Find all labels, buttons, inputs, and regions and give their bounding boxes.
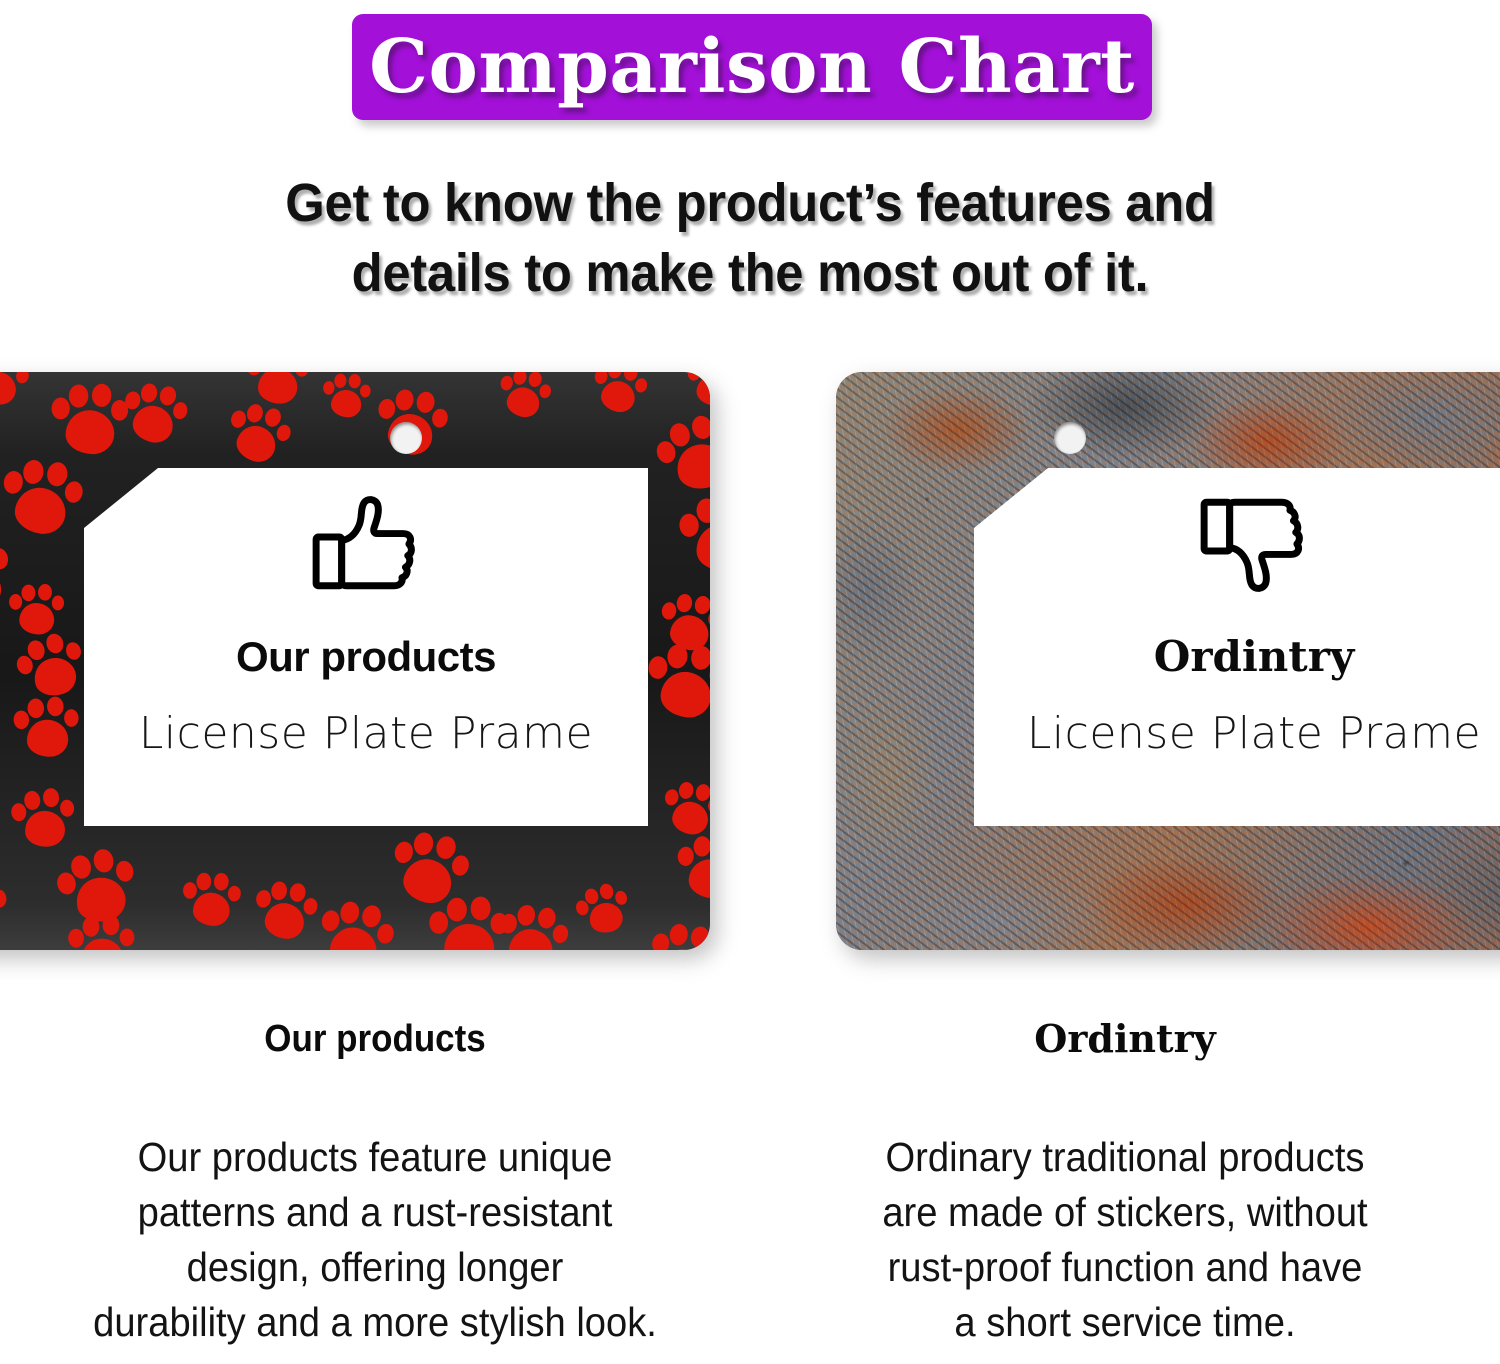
paw-print-icon bbox=[52, 844, 142, 932]
summary-line: a short service time. bbox=[776, 1295, 1474, 1350]
paw-print-icon bbox=[659, 778, 710, 841]
paw-print-icon bbox=[9, 787, 76, 853]
paw-print-icon bbox=[312, 895, 398, 950]
paw-print-icon bbox=[645, 919, 710, 950]
summary-line: rust-proof function and have bbox=[776, 1240, 1474, 1295]
summary-column-ours: Our products Our products feature unique… bbox=[0, 1020, 750, 1350]
paw-print-icon bbox=[650, 409, 710, 501]
thumbs-down-icon bbox=[1196, 486, 1312, 602]
plate-window-content-ordinary: Ordintry License Plate Prame bbox=[974, 468, 1500, 826]
paw-print-icon bbox=[13, 696, 80, 761]
paw-print-icon bbox=[251, 877, 320, 944]
paw-print-icon bbox=[493, 899, 571, 950]
paw-print-icon bbox=[321, 372, 371, 421]
summary-column-ordinary: Ordintry Ordinary traditional products a… bbox=[750, 1020, 1500, 1350]
paw-print-icon bbox=[572, 879, 634, 940]
paw-print-icon bbox=[117, 378, 190, 449]
paw-print-icon bbox=[643, 641, 710, 724]
summary-line: Ordinary traditional products bbox=[776, 1130, 1474, 1185]
summary-body-ours: Our products feature unique patterns and… bbox=[26, 1130, 724, 1350]
screw-hole bbox=[1054, 422, 1086, 454]
paw-print-icon bbox=[8, 583, 63, 636]
summary-line: Our products feature unique bbox=[26, 1130, 724, 1185]
paw-print-icon bbox=[588, 372, 650, 419]
product-window-title-ours: Our products bbox=[236, 636, 496, 678]
thumbs-up-icon bbox=[308, 486, 424, 602]
summary-line: patterns and a rust-resistant bbox=[26, 1185, 724, 1240]
summary-line: durability and a more stylish look. bbox=[26, 1295, 724, 1350]
paw-print-icon bbox=[0, 372, 31, 410]
summary-line: are made of stickers, without bbox=[776, 1185, 1474, 1240]
screw-hole bbox=[390, 422, 422, 454]
comparison-chart-page: Comparison Chart Get to know the product… bbox=[0, 0, 1500, 1364]
paw-print-icon bbox=[674, 833, 710, 902]
paw-print-icon bbox=[0, 455, 86, 541]
paw-print-icon bbox=[246, 372, 309, 407]
paw-print-icon bbox=[678, 494, 710, 576]
paw-print-icon bbox=[0, 876, 6, 940]
paw-print-icon bbox=[181, 871, 241, 929]
paw-print-icon bbox=[686, 372, 710, 408]
paw-print-icon bbox=[385, 826, 473, 912]
product-window-title-ordinary: Ordintry bbox=[1154, 636, 1355, 678]
paw-print-icon bbox=[495, 372, 554, 423]
comparison-summary: Our products Our products feature unique… bbox=[0, 1020, 1500, 1350]
summary-body-ordinary: Ordinary traditional products are made o… bbox=[776, 1130, 1474, 1350]
summary-line: design, offering longer bbox=[26, 1240, 724, 1295]
product-window-subtitle-ours: License Plate Prame bbox=[139, 712, 593, 756]
product-frame-ordinary: Ordintry License Plate Prame bbox=[836, 372, 1500, 950]
paw-print-icon bbox=[221, 397, 295, 470]
paw-print-icon bbox=[50, 382, 127, 457]
product-window-subtitle-ordinary: License Plate Prame bbox=[1027, 712, 1481, 756]
summary-heading-ordinary: Ordintry bbox=[750, 1020, 1500, 1058]
plate-window-content-ours: Our products License Plate Prame bbox=[84, 468, 648, 826]
summary-heading-ours: Our products bbox=[30, 1020, 720, 1058]
paw-print-icon bbox=[11, 628, 91, 707]
product-frame-ours: Our products License Plate Prame bbox=[0, 372, 710, 950]
